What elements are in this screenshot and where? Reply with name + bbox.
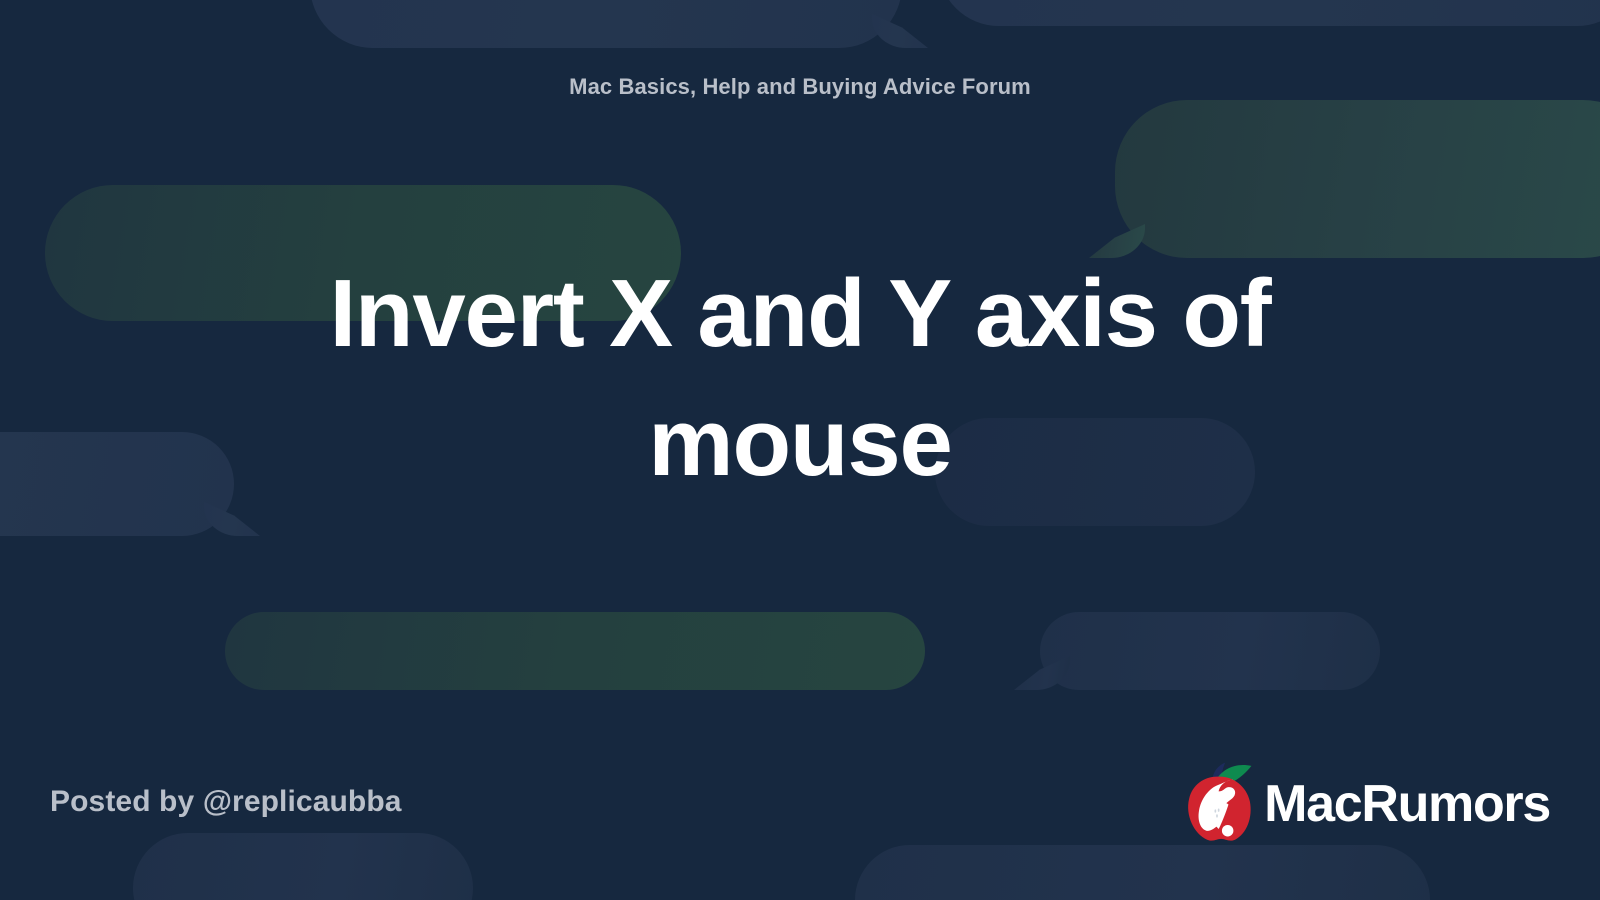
card-footer: Posted by @replicaubba — [0, 760, 1600, 844]
share-card: Mac Basics, Help and Buying Advice Forum… — [0, 0, 1600, 900]
forum-name: Mac Basics, Help and Buying Advice Forum — [569, 74, 1031, 100]
posted-by-label: Posted by @replicaubba — [50, 785, 402, 819]
macrumors-apple-question-mark-icon — [1176, 760, 1258, 844]
brand-wordmark: MacRumors — [1264, 778, 1550, 830]
brand-logo: MacRumors — [1176, 760, 1550, 844]
page-title: Invert X and Y axis of mouse — [240, 250, 1360, 507]
card-content: Mac Basics, Help and Buying Advice Forum… — [0, 0, 1600, 900]
